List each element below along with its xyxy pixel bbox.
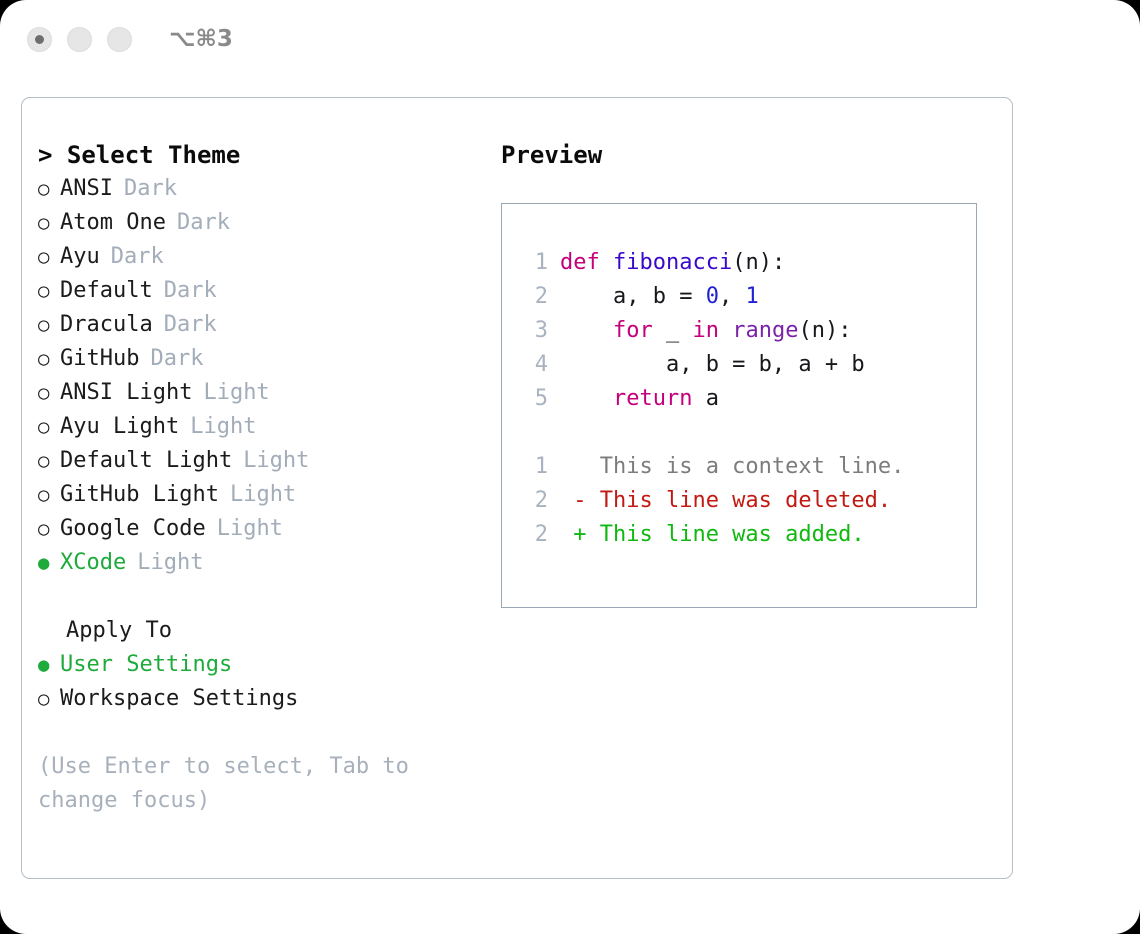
radio-unselected-icon: ○ — [38, 274, 60, 308]
theme-option-ansi[interactable]: ○ANSIDark — [38, 172, 490, 206]
theme-option-github-light[interactable]: ○GitHub LightLight — [38, 478, 490, 512]
theme-option-kind: Dark — [177, 206, 230, 240]
theme-option-kind: Light — [243, 444, 309, 478]
code-line: 1def fibonacci(n): — [502, 246, 976, 280]
code-sample: 1def fibonacci(n):2 a, b = 0, 13 for _ i… — [502, 246, 976, 416]
title-bar: ⌥⌘3 — [0, 0, 1140, 78]
code-text: a, b = b, a + b — [560, 348, 865, 382]
theme-option-label: Ayu — [60, 240, 100, 274]
theme-option-kind: Dark — [150, 342, 203, 376]
theme-option-kind: Dark — [124, 172, 177, 206]
radio-unselected-icon: ○ — [38, 308, 60, 342]
theme-option-label: GitHub Light — [60, 478, 219, 512]
select-theme-header: > Select Theme — [38, 138, 490, 172]
theme-option-kind: Light — [203, 376, 269, 410]
theme-option-label: Ayu Light — [60, 410, 179, 444]
theme-option-default-light[interactable]: ○Default LightLight — [38, 444, 490, 478]
diff-line: 2 + This line was added. — [502, 518, 976, 552]
code-text: def fibonacci(n): — [560, 246, 785, 280]
keyboard-hint: (Use Enter to select, Tab to change focu… — [38, 750, 448, 818]
theme-option-label: Default — [60, 274, 153, 308]
theme-option-ansi-light[interactable]: ○ANSI LightLight — [38, 376, 490, 410]
token-kw: return — [613, 386, 692, 411]
token-kw: for — [613, 318, 653, 343]
code-text: + This line was added. — [560, 518, 865, 552]
theme-option-ayu[interactable]: ○AyuDark — [38, 240, 490, 274]
code-text: This is a context line. — [560, 450, 904, 484]
theme-option-atom-one[interactable]: ○Atom OneDark — [38, 206, 490, 240]
token-fn: fibonacci — [613, 250, 732, 275]
token-pln: a, b = — [560, 284, 706, 309]
diff-line: 1 This is a context line. — [502, 450, 976, 484]
shortcut-label: ⌥⌘3 — [169, 26, 233, 52]
radio-unselected-icon: ○ — [38, 682, 60, 716]
line-number: 1 — [518, 246, 548, 280]
window-dot-3-icon[interactable] — [107, 27, 132, 52]
token-num: 1 — [745, 284, 758, 309]
code-blank-line — [502, 416, 976, 450]
token-call: range — [732, 318, 798, 343]
preview-column: Preview 1def fibonacci(n):2 a, b = 0, 13… — [501, 138, 1001, 608]
theme-option-label: Google Code — [60, 512, 206, 546]
code-text: - This line was deleted. — [560, 484, 891, 518]
token-pln: (n): — [732, 250, 785, 275]
line-number: 2 — [518, 484, 548, 518]
token-pln — [560, 318, 613, 343]
code-line: 2 a, b = 0, 1 — [502, 280, 976, 314]
theme-option-label: Dracula — [60, 308, 153, 342]
token-pln: a, b = b, a + b — [560, 352, 865, 377]
list-spacer — [38, 580, 490, 614]
radio-unselected-icon: ○ — [38, 342, 60, 376]
theme-option-xcode[interactable]: ●XCodeLight — [38, 546, 490, 580]
radio-unselected-icon: ○ — [38, 376, 60, 410]
apply-to-option-workspace-settings[interactable]: ○Workspace Settings — [38, 682, 490, 716]
token-pln: a — [692, 386, 719, 411]
preview-header: Preview — [501, 138, 1001, 172]
code-text: a, b = 0, 1 — [560, 280, 759, 314]
token-del: - This line was deleted. — [560, 488, 891, 513]
theme-option-kind: Light — [137, 546, 203, 580]
theme-option-kind: Dark — [164, 274, 217, 308]
theme-option-label: ANSI — [60, 172, 113, 206]
radio-selected-icon: ● — [38, 546, 60, 580]
code-text: for _ in range(n): — [560, 314, 851, 348]
main-panel: > Select Theme ○ANSIDark○Atom OneDark○Ay… — [21, 97, 1013, 879]
line-number: 4 — [518, 348, 548, 382]
line-number: 1 — [518, 450, 548, 484]
apply-to-option-label: Workspace Settings — [60, 682, 298, 716]
apply-to-header: Apply To — [38, 614, 490, 648]
theme-option-label: Atom One — [60, 206, 166, 240]
theme-option-kind: Light — [190, 410, 256, 444]
line-number: 5 — [518, 382, 548, 416]
theme-option-kind: Dark — [164, 308, 217, 342]
theme-option-dracula[interactable]: ○DraculaDark — [38, 308, 490, 342]
theme-option-label: Default Light — [60, 444, 232, 478]
line-number: 2 — [518, 280, 548, 314]
code-line: 3 for _ in range(n): — [502, 314, 976, 348]
radio-unselected-icon: ○ — [38, 512, 60, 546]
record-dot-icon — [35, 35, 44, 44]
theme-option-list: ○ANSIDark○Atom OneDark○AyuDark○DefaultDa… — [38, 172, 490, 580]
theme-option-ayu-light[interactable]: ○Ayu LightLight — [38, 410, 490, 444]
radio-selected-icon: ● — [38, 648, 60, 682]
panel-columns: > Select Theme ○ANSIDark○Atom OneDark○Ay… — [22, 98, 1012, 878]
diff-line: 2 - This line was deleted. — [502, 484, 976, 518]
line-number: 3 — [518, 314, 548, 348]
window-dot-2-icon[interactable] — [67, 27, 92, 52]
line-number: 2 — [518, 518, 548, 552]
radio-unselected-icon: ○ — [38, 410, 60, 444]
diff-sample: 1 This is a context line.2 - This line w… — [502, 450, 976, 552]
token-pln: (n): — [798, 318, 851, 343]
token-ctx: This is a context line. — [560, 454, 904, 479]
radio-unselected-icon: ○ — [38, 206, 60, 240]
theme-option-kind: Light — [217, 512, 283, 546]
token-pln — [719, 318, 732, 343]
token-pln: _ — [653, 318, 693, 343]
radio-unselected-icon: ○ — [38, 240, 60, 274]
code-line: 5 return a — [502, 382, 976, 416]
theme-option-default[interactable]: ○DefaultDark — [38, 274, 490, 308]
theme-selector-column: > Select Theme ○ANSIDark○Atom OneDark○Ay… — [38, 138, 490, 818]
theme-option-label: XCode — [60, 546, 126, 580]
radio-unselected-icon: ○ — [38, 478, 60, 512]
radio-unselected-icon: ○ — [38, 172, 60, 206]
app-window: ⌥⌘3 > Select Theme ○ANSIDark○Atom OneDar… — [0, 0, 1140, 934]
apply-to-option-list: ●User Settings○Workspace Settings — [38, 648, 490, 716]
token-add: + This line was added. — [560, 522, 865, 547]
record-indicator-icon[interactable] — [27, 27, 52, 52]
theme-option-google-code[interactable]: ○Google CodeLight — [38, 512, 490, 546]
code-text: return a — [560, 382, 719, 416]
apply-to-option-label: User Settings — [60, 648, 232, 682]
token-kw: def — [560, 250, 613, 275]
token-pln: , — [719, 284, 746, 309]
token-pln — [560, 386, 613, 411]
theme-option-github[interactable]: ○GitHubDark — [38, 342, 490, 376]
code-preview-box: 1def fibonacci(n):2 a, b = 0, 13 for _ i… — [501, 203, 977, 608]
theme-option-kind: Dark — [111, 240, 164, 274]
theme-option-label: GitHub — [60, 342, 139, 376]
token-num: 0 — [706, 284, 719, 309]
apply-to-option-user-settings[interactable]: ●User Settings — [38, 648, 490, 682]
code-line: 4 a, b = b, a + b — [502, 348, 976, 382]
theme-option-kind: Light — [230, 478, 296, 512]
theme-option-label: ANSI Light — [60, 376, 192, 410]
token-kw: in — [692, 318, 719, 343]
radio-unselected-icon: ○ — [38, 444, 60, 478]
